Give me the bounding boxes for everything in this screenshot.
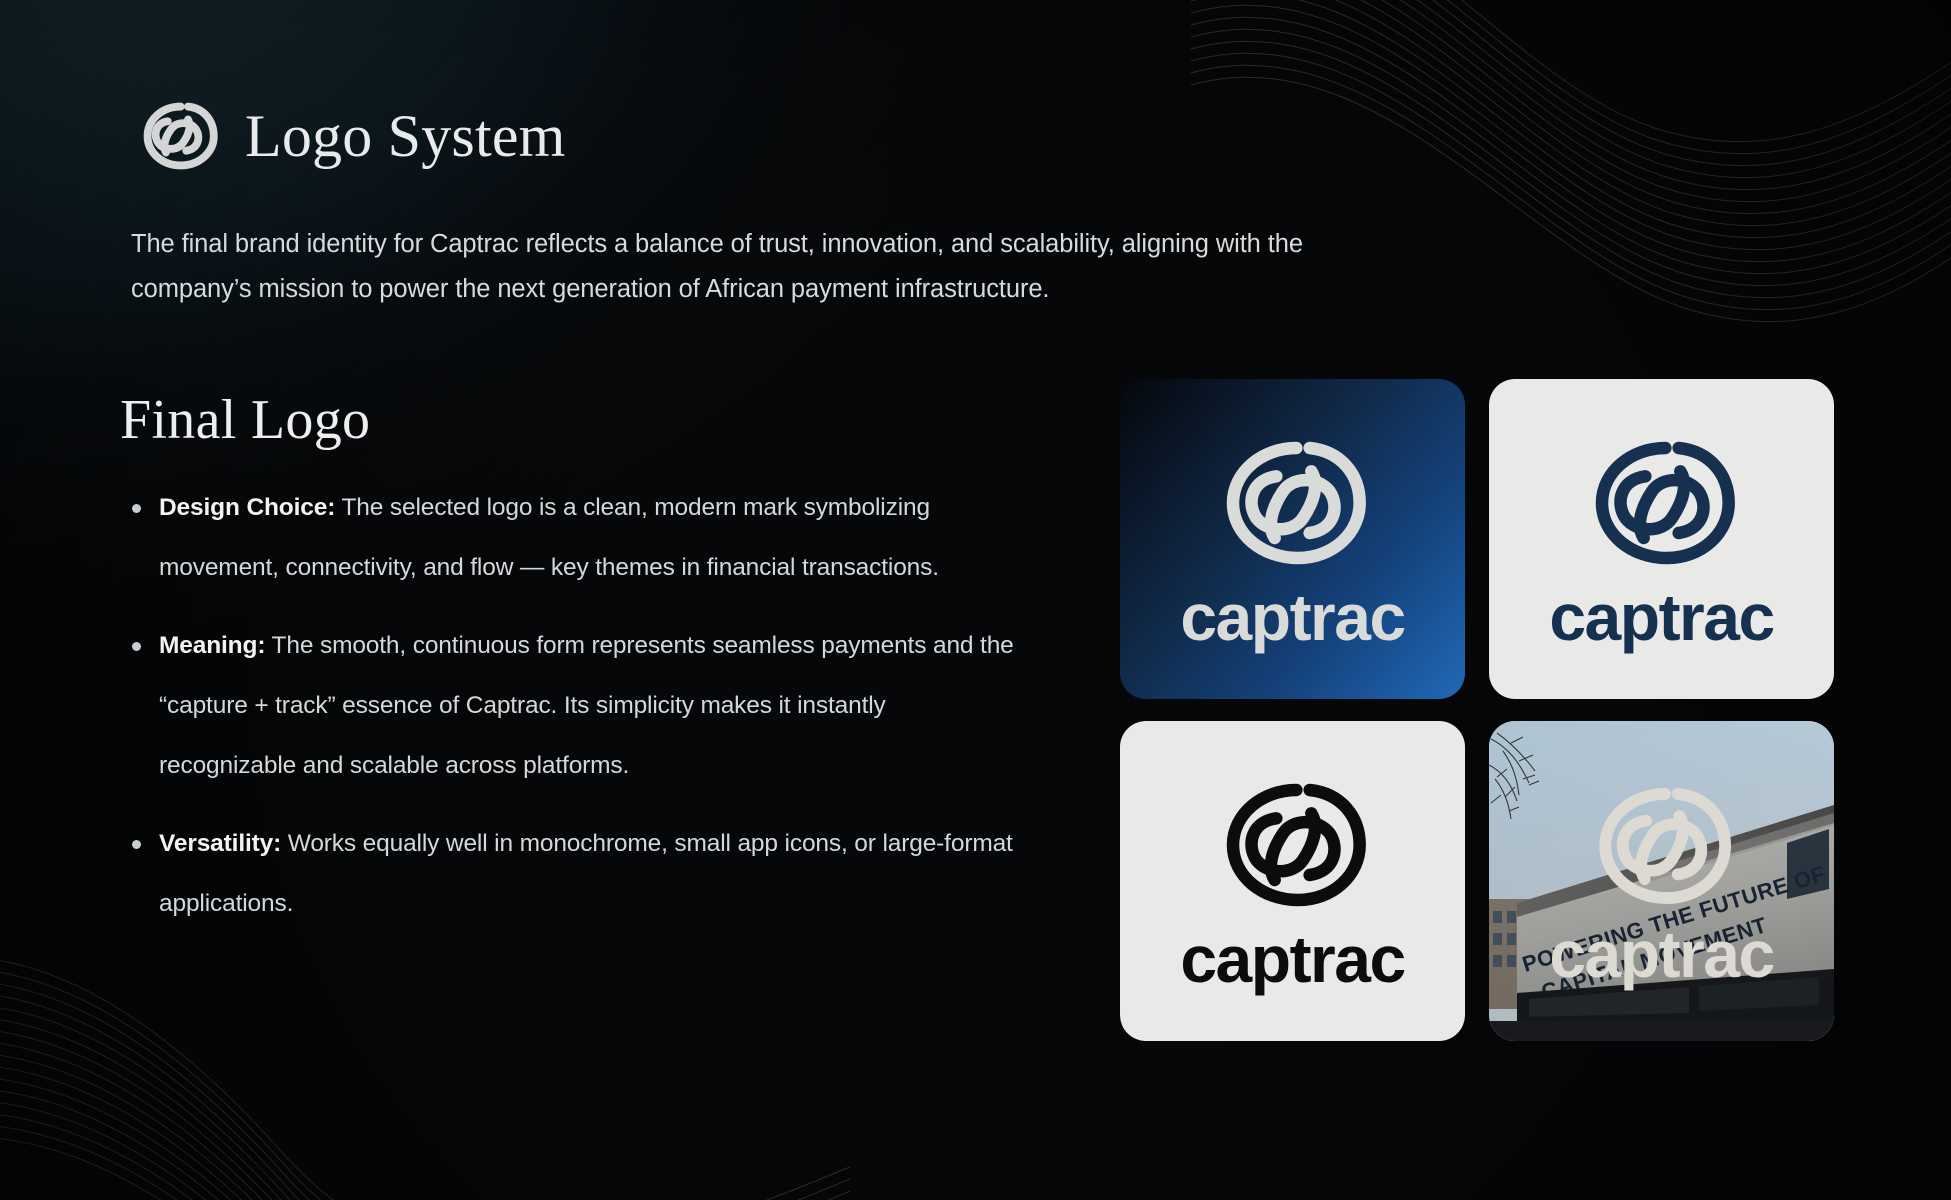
bullet-label: Design Choice: bbox=[159, 494, 335, 521]
bullet-text: Works equally well in monochrome, small … bbox=[159, 830, 1013, 917]
final-logo-bullet-list: Design Choice: The selected logo is a cl… bbox=[128, 478, 1028, 952]
logo-card-grid: captrac captrac captrac bbox=[1120, 379, 1834, 1041]
bullet-text: The smooth, continuous form represents s… bbox=[159, 632, 1014, 779]
photo-logo-overlay: captrac bbox=[1489, 721, 1834, 1041]
wordmark: captrac bbox=[1180, 584, 1404, 650]
captrac-brandmark-icon bbox=[1582, 775, 1742, 917]
slide-logo-system: Logo System The final brand identity for… bbox=[0, 0, 1951, 1200]
wordmark: captrac bbox=[1549, 921, 1773, 987]
intro-paragraph: The final brand identity for Captrac ref… bbox=[131, 222, 1361, 312]
section-title-final-logo: Final Logo bbox=[120, 388, 370, 452]
captrac-brandmark-icon bbox=[131, 90, 223, 182]
captrac-brandmark-icon bbox=[1578, 428, 1746, 578]
list-item: Versatility: Works equally well in monoc… bbox=[128, 814, 1028, 934]
captrac-brandmark-icon bbox=[1209, 428, 1377, 578]
list-item: Design Choice: The selected logo is a cl… bbox=[128, 478, 1028, 598]
logo-card-light-navy[interactable]: captrac bbox=[1489, 379, 1834, 699]
wordmark: captrac bbox=[1180, 926, 1404, 992]
captrac-brandmark-icon bbox=[1209, 770, 1377, 920]
logo-card-signage-mockup[interactable]: POWERING THE FUTURE OF CAPITAL MOVEMENT … bbox=[1489, 721, 1834, 1041]
logo-card-light-monochrome[interactable]: captrac bbox=[1120, 721, 1465, 1041]
bullet-label: Versatility: bbox=[159, 830, 281, 857]
bullet-label: Meaning: bbox=[159, 632, 265, 659]
slide-header: Logo System bbox=[131, 90, 566, 182]
logo-card-gradient-blue[interactable]: captrac bbox=[1120, 379, 1465, 699]
list-item: Meaning: The smooth, continuous form rep… bbox=[128, 616, 1028, 796]
page-title: Logo System bbox=[245, 106, 566, 166]
wordmark: captrac bbox=[1549, 584, 1773, 650]
